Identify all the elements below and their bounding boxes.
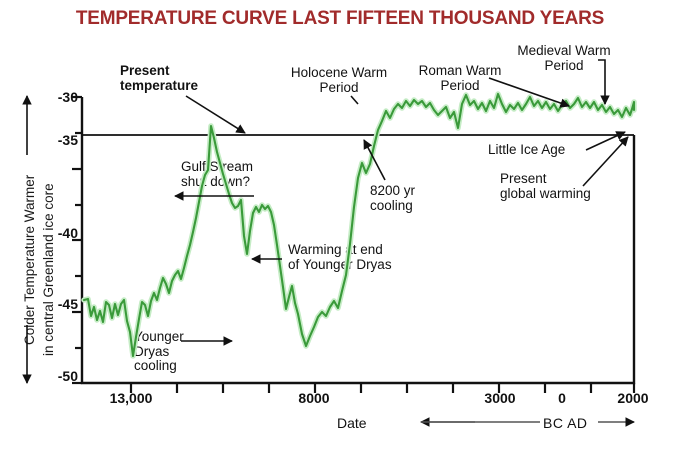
leader-present-temperature [186, 96, 245, 133]
axis-lines [82, 97, 634, 383]
leader-medieval-warm-period [598, 60, 605, 104]
temperature-curve-halo [84, 94, 634, 356]
leader-present-global-warming [583, 137, 628, 186]
chart-root: TEMPERATURE CURVE LAST FIFTEEN THOUSAND … [0, 0, 680, 449]
temperature-curve [84, 94, 634, 356]
y-axis-ticks [72, 97, 82, 383]
chart-canvas [0, 0, 680, 449]
x-axis-ticks [131, 383, 634, 393]
leader-holocene-warm-period [351, 96, 358, 104]
